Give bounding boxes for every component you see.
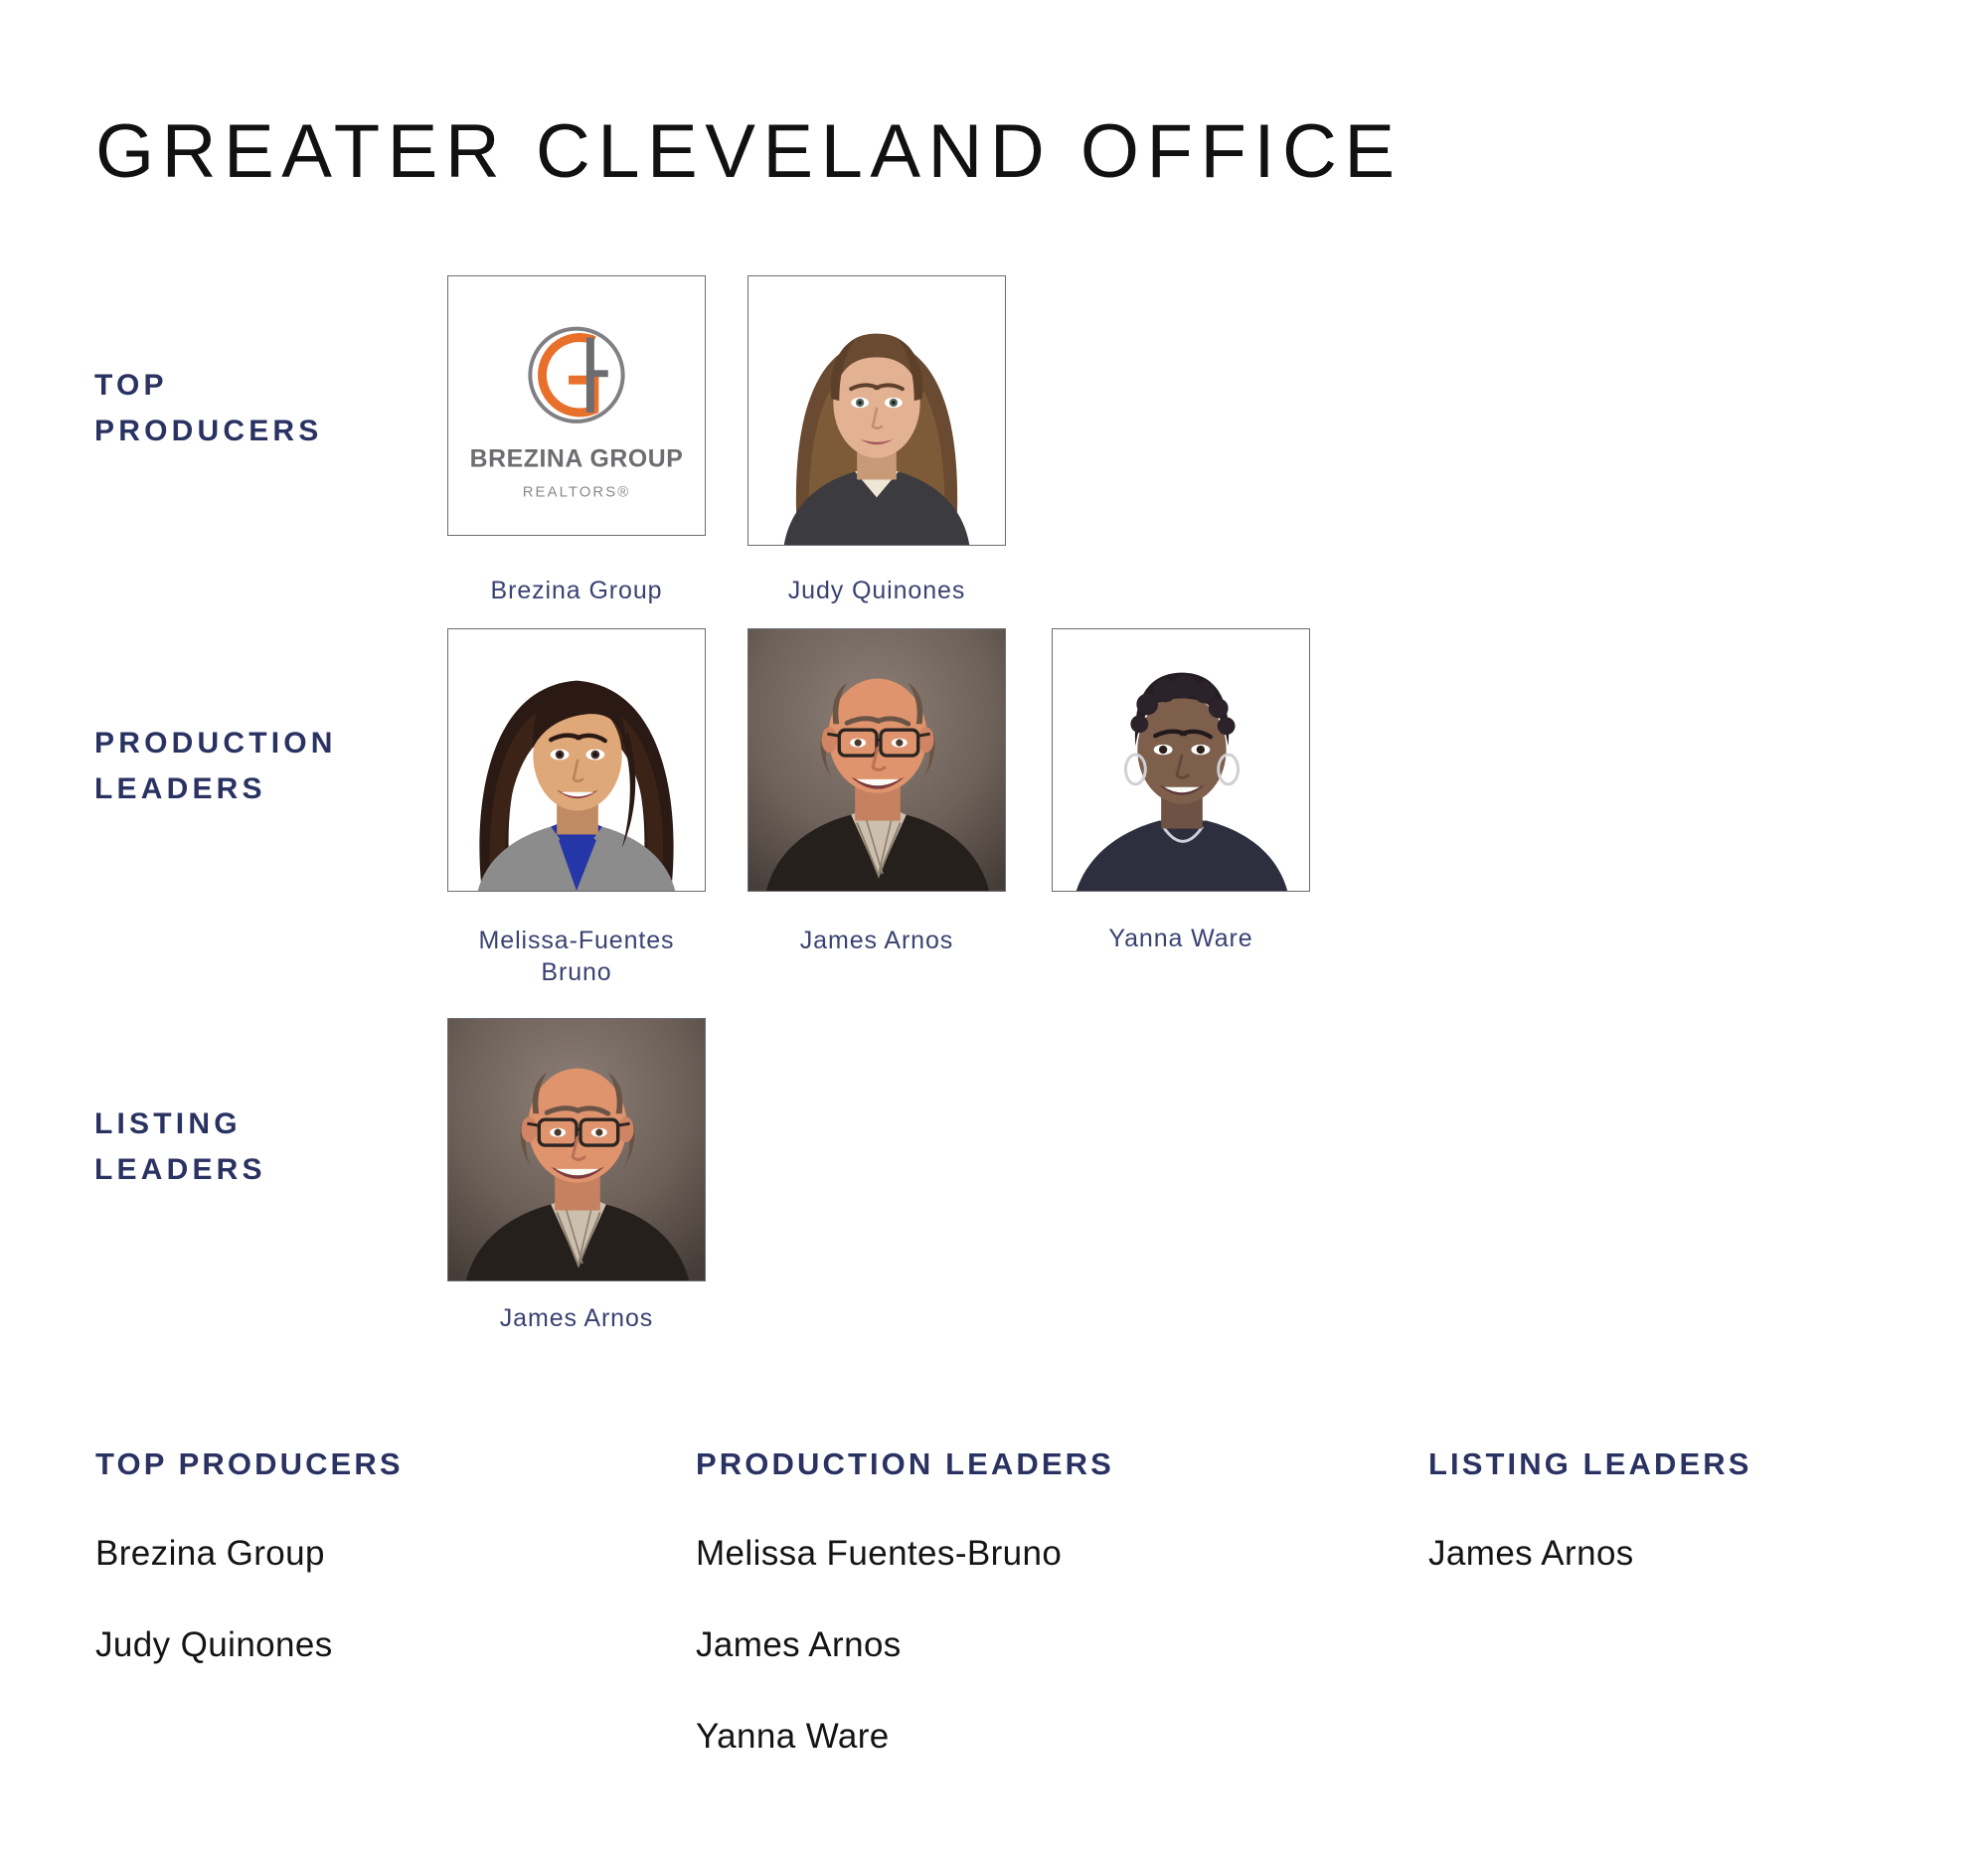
photo-card-brezina-group[interactable]: BREZINA GROUP REALTORS® [447, 275, 706, 536]
summary-heading-production-leaders: PRODUCTION LEADERS [696, 1446, 1114, 1482]
caption-james-arnos-listing: James Arnos [427, 1302, 726, 1334]
summary-column-listing-leaders: LISTING LEADERS James Arnos [1428, 1446, 1752, 1625]
caption-judy-quinones: Judy Quinones [728, 575, 1026, 606]
summary-column-production-leaders: PRODUCTION LEADERS Melissa Fuentes-Bruno… [696, 1446, 1114, 1808]
summary-item-top-producers-1: Judy Quinones [95, 1625, 404, 1665]
photo-card-james-arnos-listing[interactable] [447, 1018, 706, 1281]
summary-heading-listing-leaders: LISTING LEADERS [1428, 1446, 1752, 1482]
photo-card-melissa-fuentes-bruno[interactable] [447, 628, 706, 892]
brezina-group-logo-icon: BREZINA GROUP REALTORS® [448, 276, 705, 535]
photo-card-yanna-ware[interactable] [1052, 628, 1310, 892]
photo-card-james-arnos-production[interactable] [747, 628, 1006, 892]
summary-item-production-leaders-2: Yanna Ware [696, 1717, 1114, 1757]
row-label-production-leaders: PRODUCTION LEADERS [94, 721, 337, 811]
caption-james-arnos-production: James Arnos [728, 925, 1026, 956]
summary-item-top-producers-0: Brezina Group [95, 1534, 404, 1574]
page-title: GREATER CLEVELAND OFFICE [95, 108, 1403, 195]
portrait-judy-quinones [748, 276, 1005, 545]
logo-wordmark: BREZINA GROUP [470, 446, 684, 473]
logo-subtext: REALTORS® [523, 484, 631, 500]
portrait-yanna-ware [1053, 629, 1309, 891]
summary-heading-top-producers: TOP PRODUCERS [95, 1446, 404, 1482]
row-label-top-producers: TOP PRODUCERS [94, 363, 323, 453]
summary-item-listing-leaders-0: James Arnos [1428, 1534, 1752, 1574]
portrait-melissa-fuentes-bruno [448, 629, 705, 891]
portrait-james-arnos-listing [448, 1019, 705, 1280]
caption-brezina-group: Brezina Group [427, 575, 726, 606]
photo-card-judy-quinones[interactable] [747, 275, 1006, 546]
portrait-james-arnos-production [748, 629, 1005, 891]
summary-item-production-leaders-1: James Arnos [696, 1625, 1114, 1665]
summary-item-production-leaders-0: Melissa Fuentes-Bruno [696, 1534, 1114, 1574]
row-label-listing-leaders: LISTING LEADERS [94, 1101, 266, 1192]
office-awards-page: GREATER CLEVELAND OFFICE TOP PRODUCERS P… [0, 0, 1988, 1863]
summary-column-top-producers: TOP PRODUCERS Brezina Group Judy Quinone… [95, 1446, 404, 1717]
caption-yanna-ware: Yanna Ware [1032, 923, 1330, 954]
caption-melissa-fuentes-bruno: Melissa-Fuentes Bruno [427, 925, 726, 988]
